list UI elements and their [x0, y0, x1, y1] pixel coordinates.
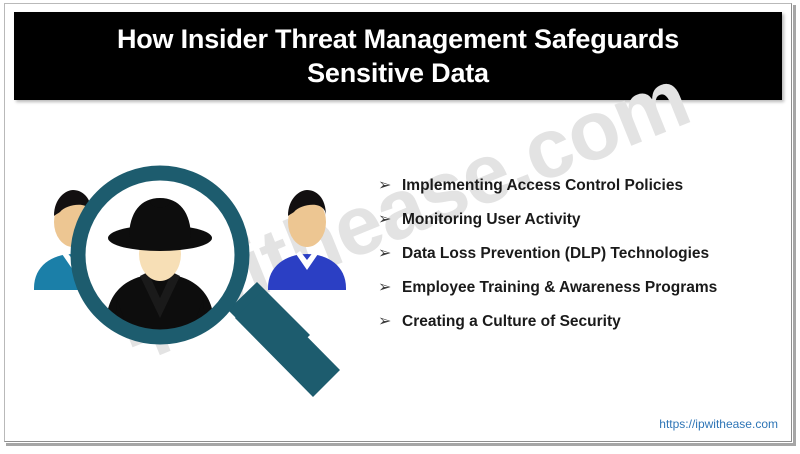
arrow-bullet-icon: ➢: [378, 278, 402, 298]
safeguards-list: ➢ Implementing Access Control Policies ➢…: [378, 176, 778, 346]
arrow-bullet-icon: ➢: [378, 312, 402, 332]
list-item: ➢ Creating a Culture of Security: [378, 312, 778, 346]
slide-canvas: How Insider Threat Management Safeguards…: [0, 0, 800, 454]
list-item: ➢ Monitoring User Activity: [378, 210, 778, 244]
arrow-bullet-icon: ➢: [378, 210, 402, 230]
list-item: ➢ Data Loss Prevention (DLP) Technologie…: [378, 244, 778, 278]
list-item-label: Monitoring User Activity: [402, 210, 581, 230]
magnifier-handle: [228, 282, 340, 397]
page-title-line-2: Sensitive Data: [307, 58, 489, 88]
list-item-label: Creating a Culture of Security: [402, 312, 621, 332]
arrow-bullet-icon: ➢: [378, 176, 402, 196]
page-title-line-1: How Insider Threat Management Safeguards: [117, 24, 679, 54]
employee-right-icon: [268, 190, 346, 290]
list-item: ➢ Implementing Access Control Policies: [378, 176, 778, 210]
list-item: ➢ Employee Training & Awareness Programs: [378, 278, 778, 312]
list-item-label: Employee Training & Awareness Programs: [402, 278, 717, 298]
footer-url[interactable]: https://ipwithease.com: [659, 417, 778, 431]
list-item-label: Data Loss Prevention (DLP) Technologies: [402, 244, 709, 264]
list-item-label: Implementing Access Control Policies: [402, 176, 683, 196]
arrow-bullet-icon: ➢: [378, 244, 402, 264]
insider-threat-illustration: [10, 150, 370, 435]
